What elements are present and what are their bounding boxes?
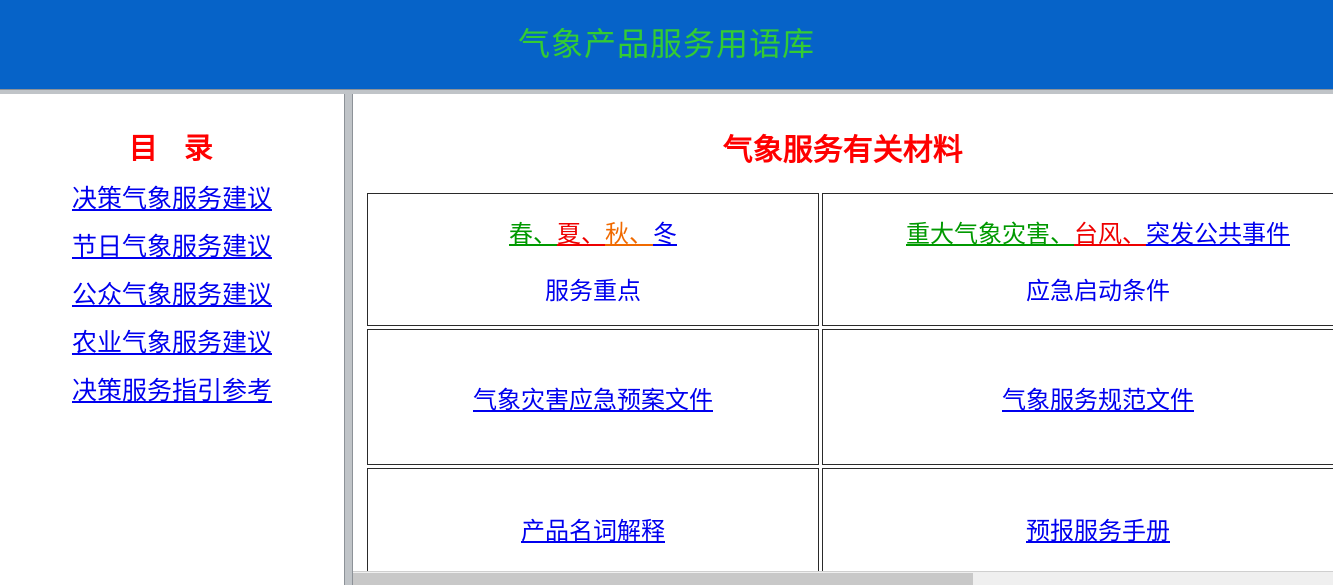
seasons-link-group[interactable]: 春、夏、秋、冬 bbox=[368, 214, 818, 249]
link-product-term-explanation[interactable]: 产品名词解释 bbox=[521, 517, 665, 545]
main-frame: 气象服务有关材料 春、夏、秋、冬 服务重点 重大气象灾害、台风 bbox=[353, 94, 1333, 585]
sidebar-frame: 目 录 决策气象服务建议 节日气象服务建议 公众气象服务建议 农业气象服务建议 … bbox=[0, 94, 344, 585]
materials-table: 春、夏、秋、冬 服务重点 重大气象灾害、台风、突发公共事件 应急启动条件 bbox=[364, 190, 1333, 585]
season-link-spring[interactable]: 春、 bbox=[509, 220, 557, 248]
table-cell-product-glossary[interactable]: 产品名词解释 bbox=[367, 468, 819, 585]
sidebar-item-agriculture-weather-service-advice[interactable]: 农业气象服务建议 bbox=[72, 328, 272, 357]
cell-subtitle-emergency-activation-conditions: 应急启动条件 bbox=[823, 271, 1333, 306]
main-section-title: 气象服务有关材料 bbox=[353, 94, 1333, 169]
sidebar-item-public-weather-service-advice[interactable]: 公众气象服务建议 bbox=[72, 280, 272, 309]
link-forecast-service-manual[interactable]: 预报服务手册 bbox=[1026, 517, 1170, 545]
list-item: 决策服务指引参考 bbox=[0, 371, 344, 407]
sidebar-item-decision-service-guideline-reference[interactable]: 决策服务指引参考 bbox=[72, 376, 272, 405]
table-row: 气象灾害应急预案文件 气象服务规范文件 bbox=[367, 329, 1333, 465]
header-banner: 气象产品服务用语库 bbox=[0, 0, 1333, 89]
sidebar-nav-list: 决策气象服务建议 节日气象服务建议 公众气象服务建议 农业气象服务建议 决策服务… bbox=[0, 179, 344, 407]
link-weather-service-standard-document[interactable]: 气象服务规范文件 bbox=[1002, 386, 1194, 414]
sidebar-title: 目 录 bbox=[0, 94, 344, 167]
horizontal-scrollbar-thumb[interactable] bbox=[353, 573, 973, 585]
link-disaster-emergency-plan-document[interactable]: 气象灾害应急预案文件 bbox=[473, 386, 713, 414]
event-link-public-emergency[interactable]: 突发公共事件 bbox=[1146, 220, 1290, 248]
season-link-autumn[interactable]: 秋、 bbox=[605, 220, 653, 248]
horizontal-scrollbar[interactable] bbox=[353, 571, 1333, 585]
table-cell-service-standard[interactable]: 气象服务规范文件 bbox=[822, 329, 1333, 465]
season-link-winter[interactable]: 冬 bbox=[653, 220, 677, 248]
list-item: 决策气象服务建议 bbox=[0, 179, 344, 215]
table-cell-seasons[interactable]: 春、夏、秋、冬 服务重点 bbox=[367, 193, 819, 326]
page-title: 气象产品服务用语库 bbox=[0, 0, 1333, 89]
event-link-major-meteorological-disaster[interactable]: 重大气象灾害、 bbox=[906, 220, 1074, 248]
sidebar-item-holiday-weather-service-advice[interactable]: 节日气象服务建议 bbox=[72, 232, 272, 261]
major-events-link-group[interactable]: 重大气象灾害、台风、突发公共事件 bbox=[823, 214, 1333, 249]
event-link-typhoon[interactable]: 台风、 bbox=[1074, 220, 1146, 248]
cell-subtitle-service-focus: 服务重点 bbox=[368, 271, 818, 306]
list-item: 节日气象服务建议 bbox=[0, 227, 344, 263]
content-area: 目 录 决策气象服务建议 节日气象服务建议 公众气象服务建议 农业气象服务建议 … bbox=[0, 94, 1333, 585]
table-row: 产品名词解释 预报服务手册 bbox=[367, 468, 1333, 585]
table-row: 春、夏、秋、冬 服务重点 重大气象灾害、台风、突发公共事件 应急启动条件 bbox=[367, 193, 1333, 326]
season-link-summer[interactable]: 夏、 bbox=[557, 220, 605, 248]
table-cell-major-events[interactable]: 重大气象灾害、台风、突发公共事件 应急启动条件 bbox=[822, 193, 1333, 326]
sidebar-item-decision-weather-service-advice[interactable]: 决策气象服务建议 bbox=[72, 184, 272, 213]
list-item: 公众气象服务建议 bbox=[0, 275, 344, 311]
table-cell-forecast-manual[interactable]: 预报服务手册 bbox=[822, 468, 1333, 585]
table-cell-disaster-emergency-plan[interactable]: 气象灾害应急预案文件 bbox=[367, 329, 819, 465]
frame-splitter-handle[interactable] bbox=[344, 94, 353, 585]
list-item: 农业气象服务建议 bbox=[0, 323, 344, 359]
app-window: 气象产品服务用语库 目 录 决策气象服务建议 节日气象服务建议 公众气象服务建议… bbox=[0, 0, 1333, 585]
